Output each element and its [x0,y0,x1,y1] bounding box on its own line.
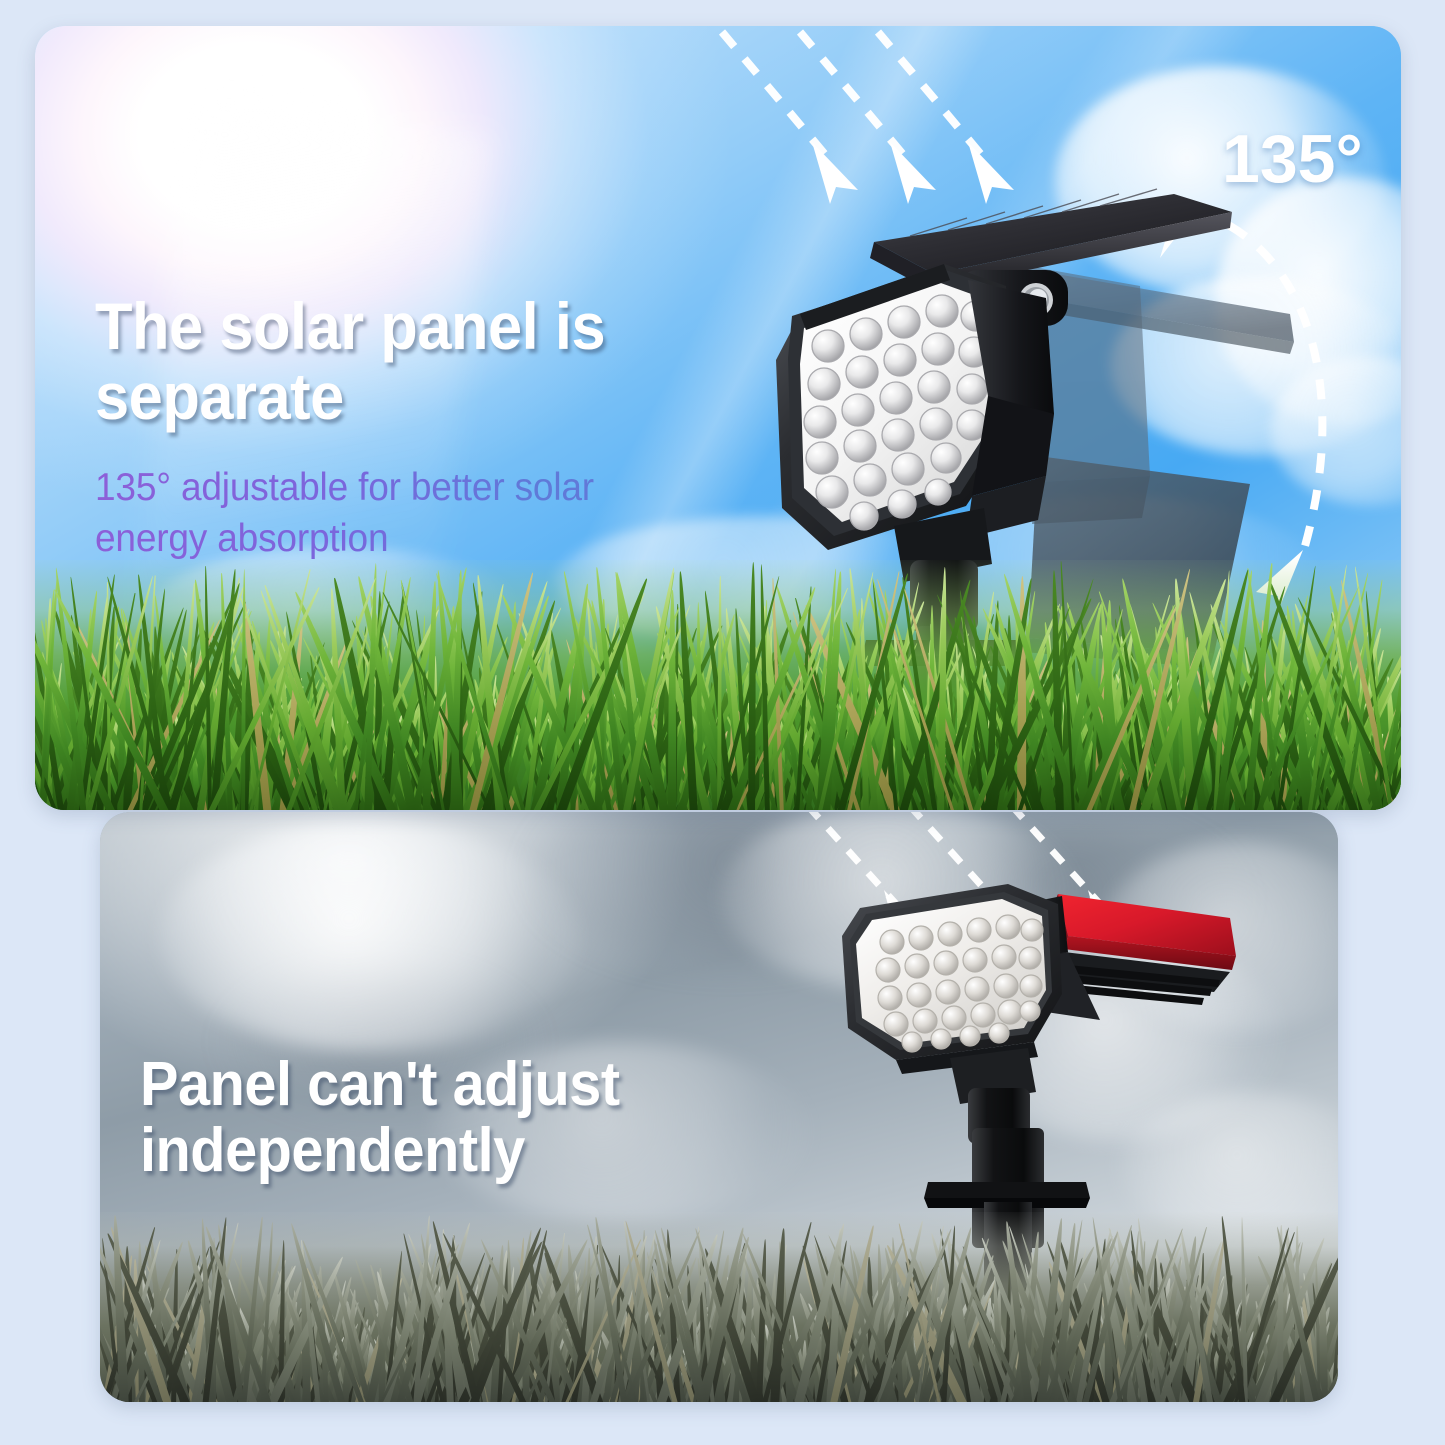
led-flood-head [842,884,1062,1074]
comparison-infographic: Panel can't adjust independently [0,0,1445,1445]
grass-foreground-top [35,560,1401,810]
top-subheadline: 135° adjustable for better solar energy … [95,462,741,565]
angle-label: 135° [1222,120,1363,198]
bottom-headline: Panel can't adjust independently [140,1052,772,1183]
top-headline: The solar panel is separate [95,292,746,432]
grass-blade [668,590,676,810]
grass-foreground-bottom [100,1212,1338,1402]
bottom-comparison-card: Panel can't adjust independently [100,812,1338,1402]
top-feature-card: The solar panel is separate 135° adjusta… [35,26,1401,810]
cloud [160,822,580,1052]
